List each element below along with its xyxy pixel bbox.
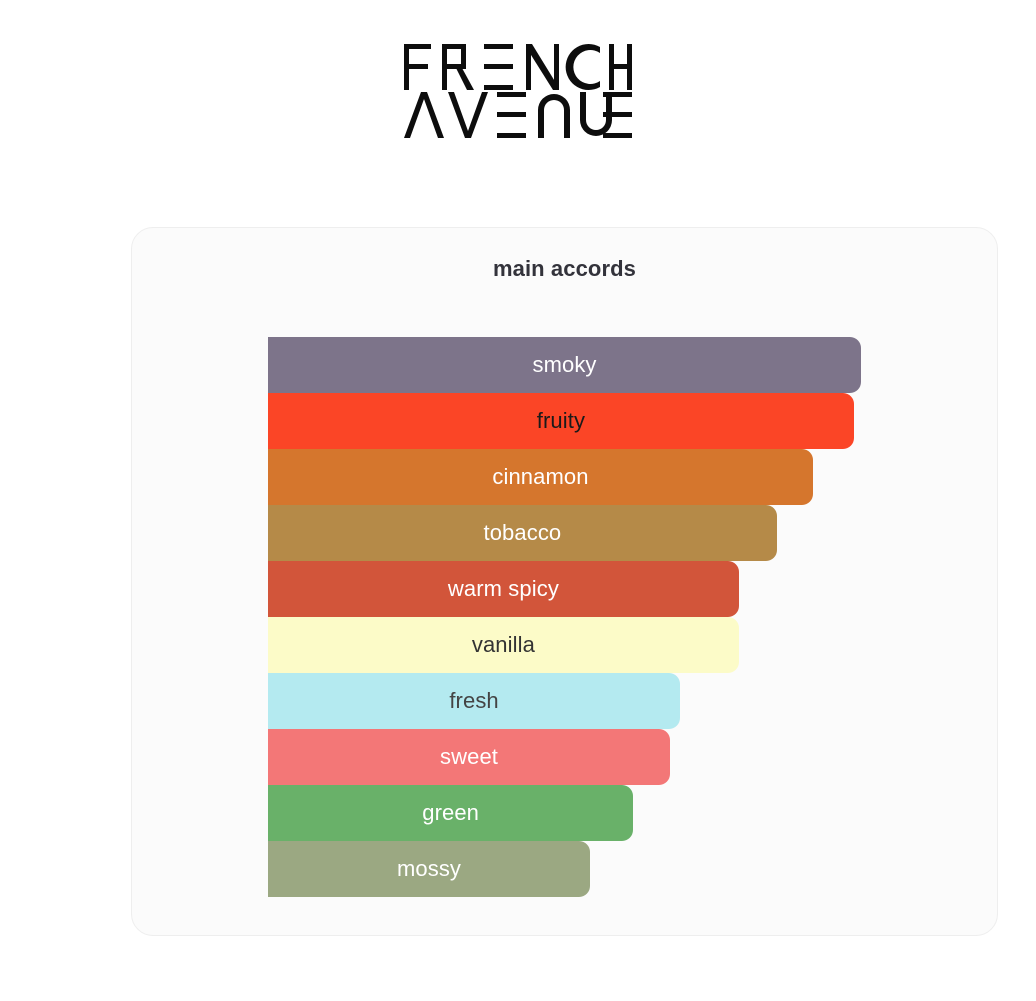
brand-logo-line-avenue [404,92,632,138]
accord-label: vanilla [472,634,535,656]
french-wordmark-icon [404,44,632,90]
accord-bar[interactable]: cinnamon [268,449,813,505]
accord-bar[interactable]: fruity [268,393,854,449]
accord-bar[interactable]: vanilla [268,617,739,673]
brand-logo [0,44,1036,138]
brand-logo-line-french [404,44,632,90]
accord-bar[interactable]: fresh [268,673,680,729]
accord-label: smoky [532,354,596,376]
accord-label: fresh [449,690,498,712]
accord-bar[interactable]: tobacco [268,505,777,561]
card-title: main accords [132,256,997,282]
accord-bar[interactable]: mossy [268,841,590,897]
accord-bar[interactable]: green [268,785,633,841]
accord-label: mossy [397,858,461,880]
avenue-wordmark-icon [404,92,632,138]
accord-label: green [422,802,479,824]
accords-bar-chart: smokyfruitycinnamontobaccowarm spicyvani… [268,337,968,897]
accord-bar[interactable]: sweet [268,729,670,785]
accord-label: cinnamon [492,466,588,488]
accord-label: tobacco [484,522,562,544]
accord-bar[interactable]: warm spicy [268,561,739,617]
accord-label: sweet [440,746,498,768]
accord-label: fruity [537,410,585,432]
accord-bar[interactable]: smoky [268,337,861,393]
main-accords-card: main accords smokyfruitycinnamontobaccow… [131,227,998,936]
accord-label: warm spicy [448,578,559,600]
